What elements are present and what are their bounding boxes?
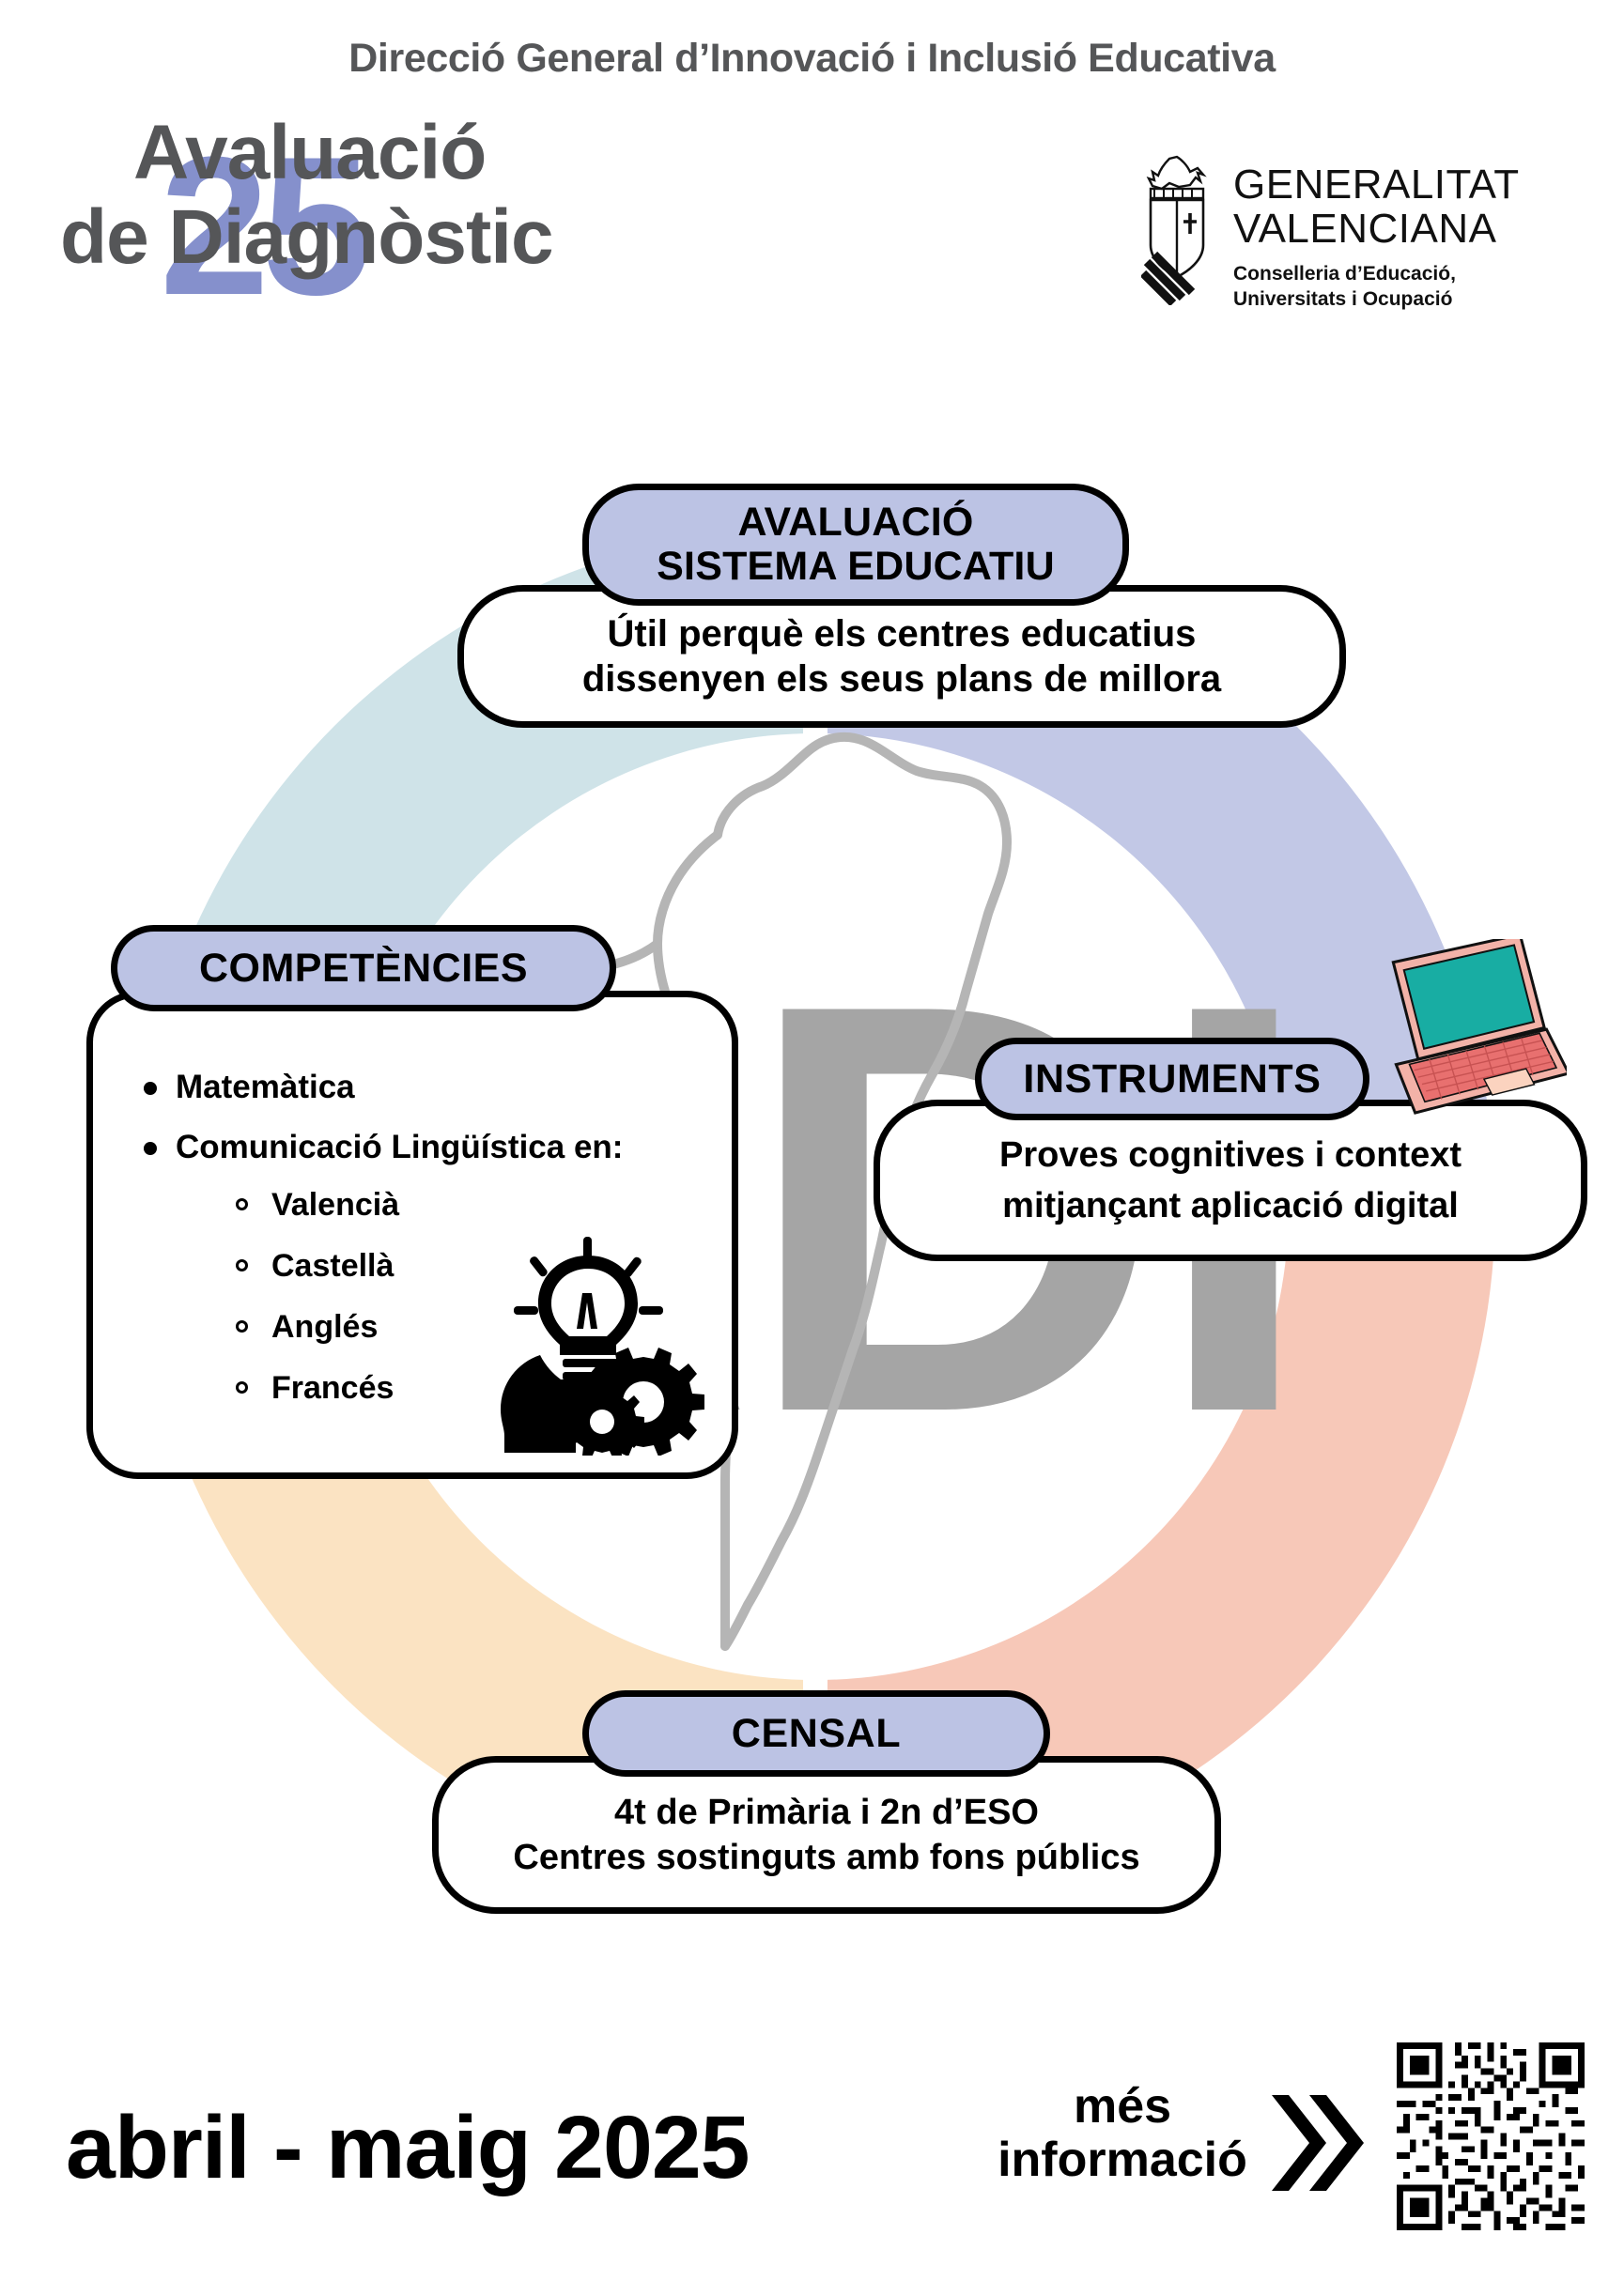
card-competencies-body: Matemàtica Comunicació Lingüística en: V… xyxy=(86,991,738,1479)
bullet-ring-icon xyxy=(236,1259,248,1271)
more-info-line1: més xyxy=(1074,2079,1171,2134)
gv-name-line2: VALENCIANA xyxy=(1233,207,1520,251)
poster-title-block: 25 Avaluació de Diagnòstic xyxy=(39,120,753,346)
card-avaluacio-body-line2: dissenyen els seus plans de millora xyxy=(582,658,1221,700)
card-avaluacio-body: Útil perquè els centres educatius dissen… xyxy=(457,585,1346,728)
bullet-dot-icon xyxy=(144,1142,157,1155)
card-avaluacio-title: AVALUACIÓ SISTEMA EDUCATIU xyxy=(582,484,1129,606)
gv-name-line1: GENERALITAT xyxy=(1233,162,1520,207)
language-label: Valencià xyxy=(271,1187,399,1223)
double-chevron-right-icon xyxy=(1268,2091,1367,2195)
card-censal: CENSAL 4t de Primària i 2n d’ESO Centres… xyxy=(582,1690,1221,1925)
card-competencies: COMPETÈNCIES Matemàtica Comunicació Ling… xyxy=(86,925,744,1488)
more-info-label: més informació xyxy=(996,2080,1249,2187)
generalitat-valenciana-logo: GENERALITAT VALENCIANA Conselleria d’Edu… xyxy=(1141,155,1583,333)
bullet-ring-icon xyxy=(236,1381,248,1394)
card-competencies-title: COMPETÈNCIES xyxy=(111,925,616,1011)
gv-sub-line1: Conselleria d’Educació, xyxy=(1233,261,1520,286)
date-range-label: abril - maig 2025 xyxy=(66,2097,750,2199)
poster-footer: abril - maig 2025 més informació xyxy=(0,2042,1624,2296)
card-instruments-body-line1: Proves cognitives i context xyxy=(999,1135,1462,1175)
list-item: Matemàtica xyxy=(138,1071,732,1104)
gv-sub-line2: Universitats i Ocupació xyxy=(1233,286,1520,312)
card-censal-title: CENSAL xyxy=(582,1690,1050,1777)
poster-header: Direcció General d’Innovació i Inclusió … xyxy=(0,0,1624,394)
card-censal-body-line1: 4t de Primària i 2n d’ESO xyxy=(614,1793,1039,1832)
card-censal-body: 4t de Primària i 2n d’ESO Centres sostin… xyxy=(432,1756,1221,1914)
card-censal-body-line2: Centres sostinguts amb fons públics xyxy=(513,1838,1139,1877)
card-avaluacio-sistema-educatiu: AVALUACIÓ SISTEMA EDUCATIU Útil perquè e… xyxy=(582,484,1471,737)
card-avaluacio-title-line1: AVALUACIÓ xyxy=(737,500,973,545)
bullet-dot-icon xyxy=(144,1082,157,1095)
qr-code-icon[interactable] xyxy=(1397,2042,1585,2230)
card-avaluacio-body-line1: Útil perquè els centres educatius xyxy=(608,613,1197,655)
poster-title-line1: Avaluació xyxy=(133,109,486,197)
card-instruments-title: INSTRUMENTS xyxy=(975,1038,1369,1120)
competency-label: Comunicació Lingüística en: xyxy=(176,1129,623,1165)
laptop-icon xyxy=(1360,939,1567,1132)
department-title: Direcció General d’Innovació i Inclusió … xyxy=(0,36,1624,82)
language-label: Castellà xyxy=(271,1248,394,1284)
more-info-line2: informació xyxy=(998,2133,1247,2187)
gv-logo-text: GENERALITAT VALENCIANA Conselleria d’Edu… xyxy=(1233,162,1520,312)
gv-shield-icon xyxy=(1141,155,1214,305)
bullet-ring-icon xyxy=(236,1320,248,1333)
bullet-ring-icon xyxy=(236,1198,248,1210)
card-instruments-body-line2: mitjançant aplicació digital xyxy=(1002,1186,1459,1225)
list-item: Valencià xyxy=(230,1189,732,1221)
poster-title-line2: de Diagnòstic xyxy=(60,193,553,282)
brain-lightbulb-gear-icon xyxy=(486,1235,711,1456)
language-label: Francés xyxy=(271,1370,394,1406)
card-avaluacio-title-line2: SISTEMA EDUCATIU xyxy=(657,544,1055,589)
language-label: Anglés xyxy=(271,1309,378,1345)
competency-label: Matemàtica xyxy=(176,1069,355,1105)
